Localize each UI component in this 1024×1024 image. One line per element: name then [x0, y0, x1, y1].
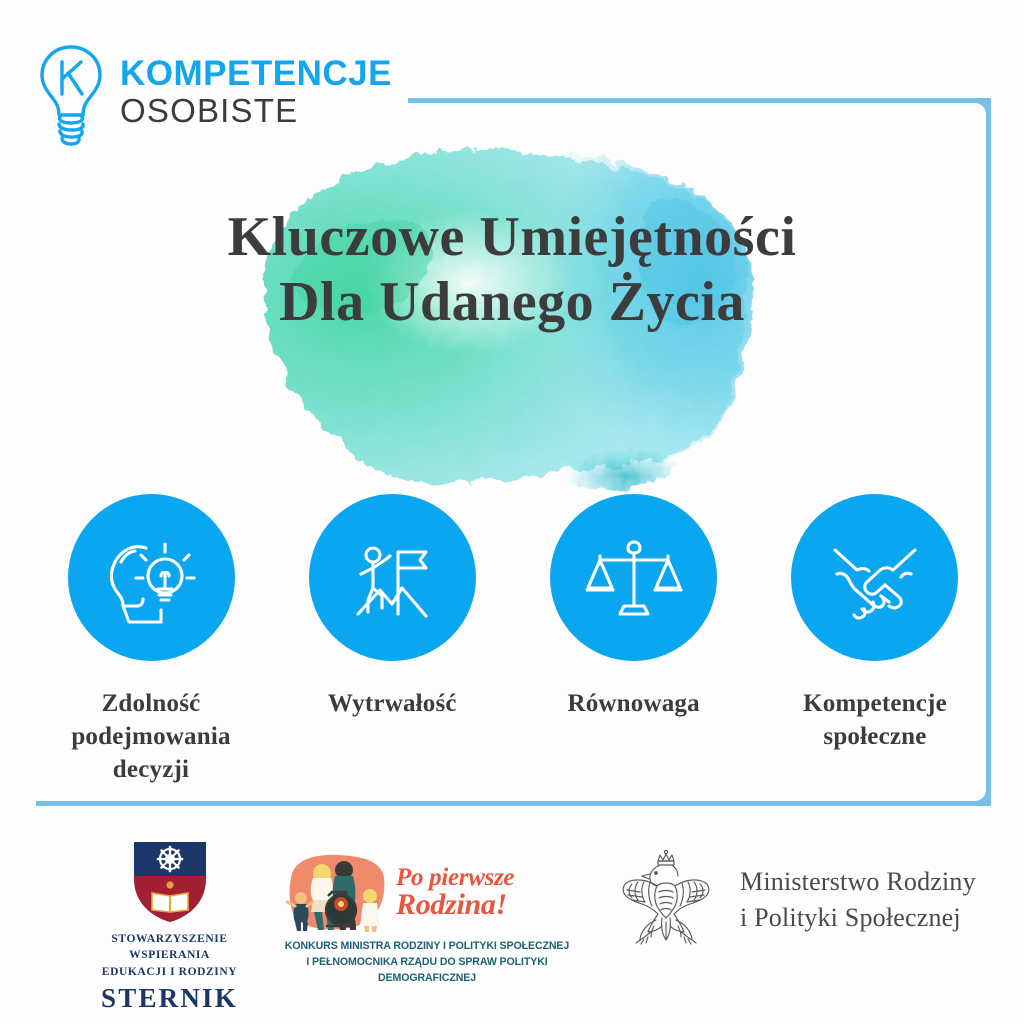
skill-label-decision: Zdolność podejmowania decyzji — [71, 687, 230, 786]
rodzina-logo: Po pierwsze Rodzina! KONKURS MINISTRA RO… — [282, 852, 572, 987]
skill-circle-social[interactable] — [791, 494, 958, 661]
lightbulb-k-icon — [34, 42, 108, 150]
rodzina-wordmark: Po pierwsze Rodzina! — [396, 865, 514, 921]
skill-label-line: podejmowania — [71, 723, 230, 750]
rodzina-word-2: Rodzina! — [396, 890, 514, 921]
sternik-logo: STOWARZYSZENIE WSPIERANIA EDUKACJI I ROD… — [62, 840, 277, 1014]
skill-label-social: Kompetencje społeczne — [803, 687, 947, 753]
brand-line-1: KOMPETENCJE — [120, 56, 392, 93]
ministry-name: Ministerstwo Rodziny i Polityki Społeczn… — [740, 864, 976, 936]
handshake-icon — [823, 526, 927, 630]
skill-label-balance: Równowaga — [567, 687, 699, 720]
skill-circle-perseverance[interactable] — [309, 494, 476, 661]
skill-label-line: Wytrwałość — [328, 690, 457, 717]
rodzina-subtitle: KONKURS MINISTRA RODZINY I POLITYKI SPOŁ… — [282, 939, 572, 987]
frame-bottom-line — [36, 801, 990, 806]
sternik-line-3: EDUKACJI I RODZINY — [102, 966, 237, 978]
skill-label-line: Równowaga — [567, 690, 699, 717]
footer-logos: STOWARZYSZENIE WSPIERANIA EDUKACJI I ROD… — [0, 830, 1024, 1020]
rodzina-sub-line-1: KONKURS MINISTRA RODZINY I POLITYKI SPOŁ… — [285, 940, 569, 952]
ministry-line-1: Ministerstwo Rodziny — [740, 864, 976, 900]
sternik-line-1: STOWARZYSZENIE — [111, 933, 227, 945]
title-line-1: Kluczowe Umiejętności — [0, 205, 1024, 270]
skill-item-perseverance[interactable]: Wytrwałość — [277, 494, 507, 786]
rodzina-sub-line-2: I PEŁNOMOCNIKA RZĄDU DO SPRAW POLITYKI D… — [306, 956, 547, 984]
polish-eagle-emblem — [618, 848, 714, 952]
rodzina-word-1: Po pierwsze — [396, 865, 514, 891]
climber-flag-icon — [340, 526, 444, 630]
brand-logo: KOMPETENCJE OSOBISTE — [34, 42, 392, 150]
brand-wordmark: KOMPETENCJE OSOBISTE — [120, 56, 392, 130]
skill-label-line: Kompetencje — [803, 690, 947, 717]
balance-scales-icon — [582, 526, 686, 630]
family-illustration — [282, 852, 390, 934]
head-lightbulb-icon — [99, 526, 203, 630]
ministry-logo: Ministerstwo Rodziny i Polityki Społeczn… — [618, 848, 976, 952]
skill-circle-decision[interactable] — [68, 494, 235, 661]
sternik-name: STERNIK — [101, 983, 238, 1014]
skill-item-social[interactable]: Kompetencje społeczne — [760, 494, 990, 786]
skill-item-decision[interactable]: Zdolność podejmowania decyzji — [36, 494, 266, 786]
skills-row: Zdolność podejmowania decyzji — [36, 494, 990, 786]
brand-line-2: OSOBISTE — [120, 93, 392, 130]
ministry-line-2: i Polityki Społecznej — [740, 900, 976, 936]
skill-label-line: społeczne — [823, 723, 926, 750]
poster-canvas: KOMPETENCJE OSOBISTE — [0, 0, 1024, 1024]
frame-top-line — [408, 98, 986, 103]
skill-label-line: decyzji — [113, 756, 189, 783]
sternik-shield-crest — [127, 840, 213, 924]
page-title: Kluczowe Umiejętności Dla Udanego Życia — [0, 205, 1024, 335]
skill-item-balance[interactable]: Równowaga — [519, 494, 749, 786]
rodzina-top-row: Po pierwsze Rodzina! — [282, 852, 572, 934]
sternik-subtitle: STOWARZYSZENIE WSPIERANIA EDUKACJI I ROD… — [102, 931, 237, 980]
skill-circle-balance[interactable] — [550, 494, 717, 661]
skill-label-line: Zdolność — [102, 690, 201, 717]
skill-label-perseverance: Wytrwałość — [328, 687, 457, 720]
title-line-2: Dla Udanego Życia — [0, 270, 1024, 335]
sternik-line-2: WSPIERANIA — [129, 949, 210, 961]
